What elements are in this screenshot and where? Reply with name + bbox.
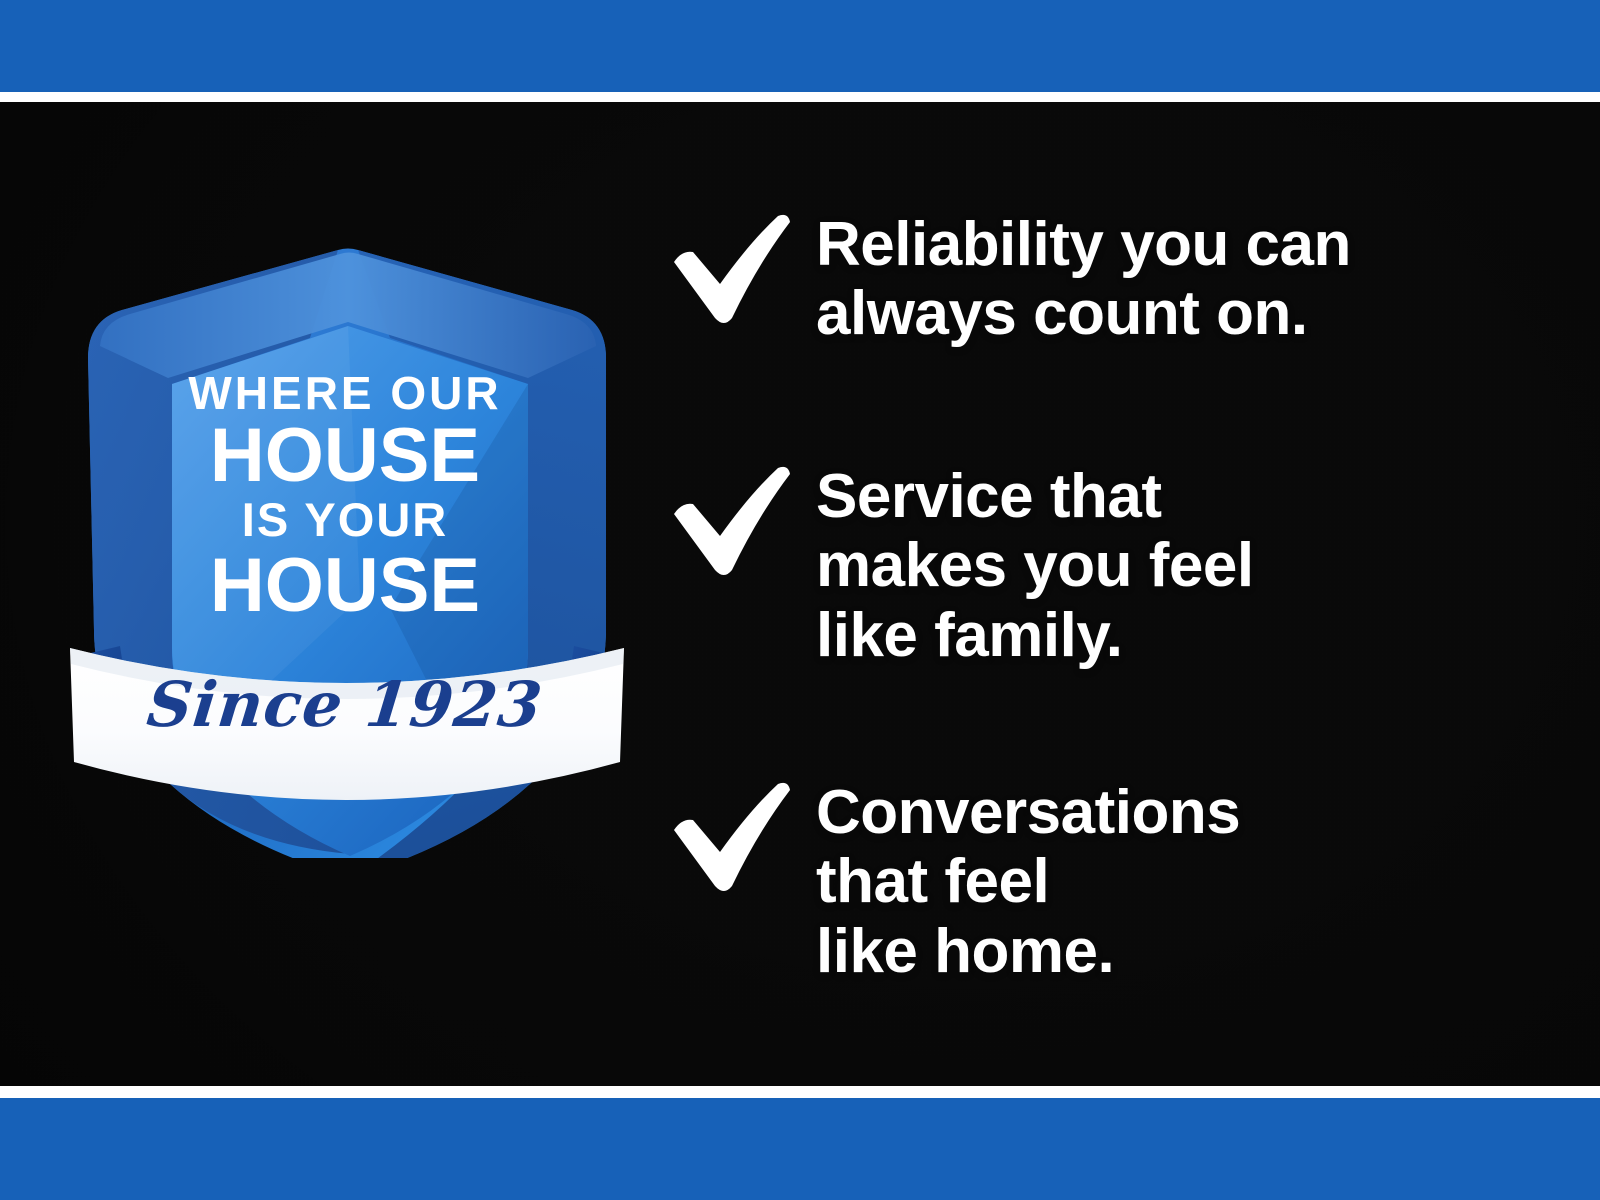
shield-logo: WHERE OUR HOUSE IS YOUR HOUSE Since 1923 (60, 178, 630, 858)
shield-graphic (60, 178, 630, 858)
value-prop-list: Reliability you can always count on. Ser… (660, 102, 1560, 1086)
list-item-text: Reliability you can always count on. (816, 210, 1351, 349)
check-icon (660, 458, 792, 582)
list-item-line: like family. (816, 601, 1254, 670)
list-item-line: that feel (816, 847, 1240, 916)
list-item-text: Conversations that feel like home. (816, 778, 1240, 986)
list-item-line: Conversations (816, 778, 1240, 847)
list-item: Reliability you can always count on. (660, 210, 1351, 349)
list-item-line: like home. (816, 917, 1240, 986)
bottom-brand-bar (0, 1098, 1600, 1200)
list-item-line: Reliability you can (816, 210, 1351, 279)
check-icon (660, 774, 792, 898)
bottom-divider-stripe (0, 1086, 1600, 1098)
top-brand-bar (0, 0, 1600, 92)
list-item-line: always count on. (816, 279, 1351, 348)
promo-banner: WHERE OUR HOUSE IS YOUR HOUSE Since 1923… (0, 0, 1600, 1200)
top-divider-stripe (0, 92, 1600, 102)
list-item-line: makes you feel (816, 531, 1254, 600)
check-icon (660, 206, 792, 330)
list-item-text: Service that makes you feel like family. (816, 462, 1254, 670)
list-item: Service that makes you feel like family. (660, 462, 1254, 670)
list-item: Conversations that feel like home. (660, 778, 1240, 986)
list-item-line: Service that (816, 462, 1254, 531)
